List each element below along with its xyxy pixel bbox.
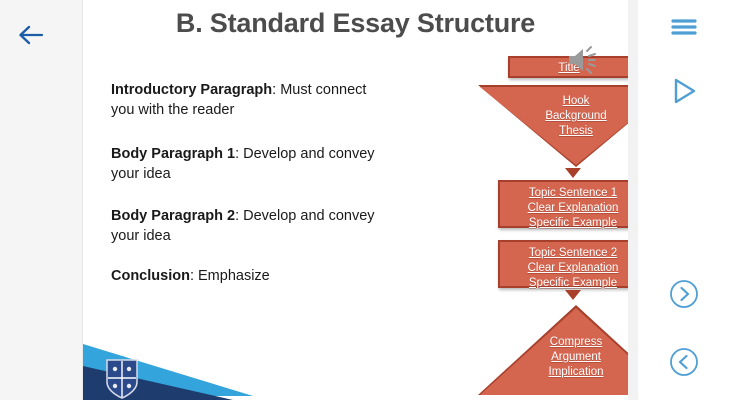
back-button[interactable]	[8, 12, 54, 58]
connector-arrow-down-icon-2	[565, 290, 581, 300]
diagram-body1-box-text: Topic Sentence 1 Clear Explanation Speci…	[500, 186, 628, 231]
next-button[interactable]	[661, 273, 707, 319]
bullet-conclusion-rest: : Emphasize	[190, 268, 270, 284]
speaker-volume-icon[interactable]	[566, 45, 600, 75]
bullet-intro-lead: Introductory Paragraph	[111, 82, 272, 98]
bullet-body1: Body Paragraph 1: Develop and convey you…	[111, 144, 391, 184]
bullet-body1-lead: Body Paragraph 1	[111, 146, 235, 162]
bullet-list: Introductory Paragraph: Must connect you…	[111, 80, 391, 304]
triangle-down-fill	[480, 87, 628, 165]
essay-structure-diagram: Title Hook Background Thesis Topic Sente…	[393, 50, 628, 400]
chevron-right-circle-icon	[669, 279, 699, 314]
page-title: B. Standard Essay Structure	[83, 8, 628, 39]
diagram-body2-box-text: Topic Sentence 2 Clear Explanation Speci…	[500, 246, 628, 291]
connector-arrow-down-icon	[565, 168, 581, 178]
play-button[interactable]	[661, 70, 707, 116]
diagram-body2-box: Topic Sentence 2 Clear Explanation Speci…	[498, 240, 628, 288]
school-crest-logo	[105, 358, 139, 400]
bullet-intro: Introductory Paragraph: Must connect you…	[111, 80, 391, 120]
previous-button[interactable]	[661, 341, 707, 387]
control-sidebar	[638, 0, 729, 400]
slide-right-gutter	[628, 0, 638, 400]
hamburger-menu-icon	[670, 16, 698, 43]
diagram-body1-box: Topic Sentence 1 Clear Explanation Speci…	[498, 180, 628, 228]
play-triangle-icon	[670, 76, 698, 111]
triangle-up-fill	[480, 308, 628, 395]
bullet-body2: Body Paragraph 2: Develop and convey you…	[111, 206, 391, 246]
left-gutter	[0, 0, 83, 400]
menu-button[interactable]	[661, 6, 707, 52]
arrow-left-icon	[17, 24, 45, 46]
bullet-conclusion-lead: Conclusion	[111, 268, 190, 284]
slide-canvas: B. Standard Essay Structure Introductory…	[83, 0, 628, 400]
chevron-left-circle-icon	[669, 347, 699, 382]
slide-viewer-app: B. Standard Essay Structure Introductory…	[0, 0, 729, 400]
bullet-conclusion: Conclusion: Emphasize	[111, 266, 391, 286]
bullet-body2-lead: Body Paragraph 2	[111, 208, 235, 224]
